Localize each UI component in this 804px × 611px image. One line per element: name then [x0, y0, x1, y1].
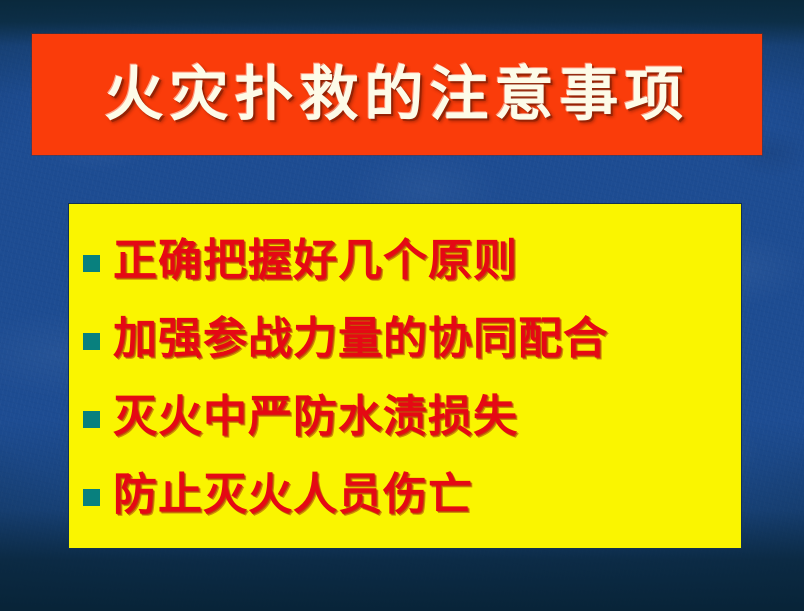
title-banner: 火灾扑救的注意事项 [32, 34, 762, 155]
square-bullet-icon [83, 489, 100, 506]
list-item: 加强参战力量的协同配合 [69, 300, 741, 378]
bullet-text: 防止灭火人员伤亡 [113, 473, 473, 517]
list-item: 正确把握好几个原则 [69, 222, 741, 300]
presentation-slide: 火灾扑救的注意事项 正确把握好几个原则 加强参战力量的协同配合 灭火中严防水渍损… [0, 0, 804, 611]
slide-title: 火灾扑救的注意事项 [32, 64, 762, 123]
square-bullet-icon [83, 255, 100, 272]
bullet-text: 灭火中严防水渍损失 [113, 395, 518, 439]
bullet-text: 正确把握好几个原则 [113, 239, 518, 283]
square-bullet-icon [83, 411, 100, 428]
list-item: 灭火中严防水渍损失 [69, 378, 741, 456]
content-box: 正确把握好几个原则 加强参战力量的协同配合 灭火中严防水渍损失 防止灭火人员伤亡 [68, 203, 742, 549]
bullet-text: 加强参战力量的协同配合 [113, 317, 608, 361]
list-item: 防止灭火人员伤亡 [69, 456, 741, 534]
square-bullet-icon [83, 333, 100, 350]
